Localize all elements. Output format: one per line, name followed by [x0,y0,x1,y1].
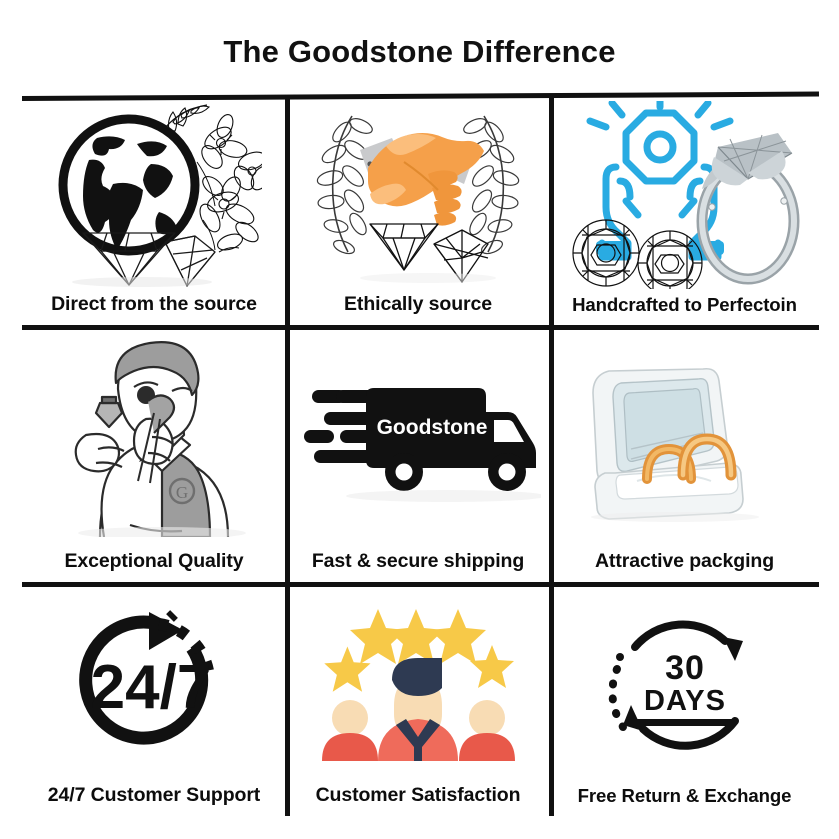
feature-label: Direct from the source [51,293,257,325]
twentyfour-seven-icon: 24/7 [22,582,286,784]
feature-cell-24-7-customer-support: 24/7 24/7 Customer Support [22,582,286,816]
globe-diamond-flowers-icon [22,96,286,293]
feature-label: Exceptional Quality [64,550,243,582]
return-unit-label: DAYS [644,685,726,717]
feature-label: Fast & secure shipping [312,550,524,582]
feature-cell-ethically-source: Ethically source [286,96,550,325]
goodstone-difference-infographic: The Goodstone Difference [0,0,839,839]
delivery-truck-icon: Goodstone [286,325,550,550]
feature-label: Ethically source [344,293,492,325]
feature-grid: Direct from the source [22,96,819,816]
handshake-laurel-diamond-icon [286,96,550,293]
five-stars-people-icon [286,582,550,784]
feature-label: Handcrafted to Perfectoin [572,294,797,325]
feature-label: Customer Satisfaction [316,784,521,816]
hands-gem-ring-icon [550,96,819,294]
truck-brand-label: Goodstone [376,416,487,439]
feature-cell-handcrafted-to-perfectoin: Handcrafted to Perfectoin [550,96,819,325]
return-number-label: 30 [665,649,705,687]
feature-cell-free-return-and-exchange: 30 DAYS Free Return & Exchange [550,582,819,816]
feature-label: 24/7 Customer Support [48,784,260,816]
support-hours-label: 24/7 [90,653,211,722]
ring-box-icon [550,325,819,550]
thirty-days-return-icon: 30 DAYS [550,582,819,785]
feature-cell-customer-satisfaction: Customer Satisfaction [286,582,550,816]
feature-cell-fast-and-secure-shipping: Goodstone Fast & secure shipping [286,325,550,582]
vest-monogram: G [175,483,187,502]
feature-label: Attractive packging [595,550,774,582]
feature-cell-direct-from-the-source: Direct from the source [22,96,286,325]
jeweler-loupe-icon: G [22,325,286,550]
page-title: The Goodstone Difference [0,34,839,70]
feature-label: Free Return & Exchange [578,785,792,816]
feature-cell-exceptional-quality: G Exceptional Quality [22,325,286,582]
feature-cell-attractive-packging: Attractive packging [550,325,819,582]
